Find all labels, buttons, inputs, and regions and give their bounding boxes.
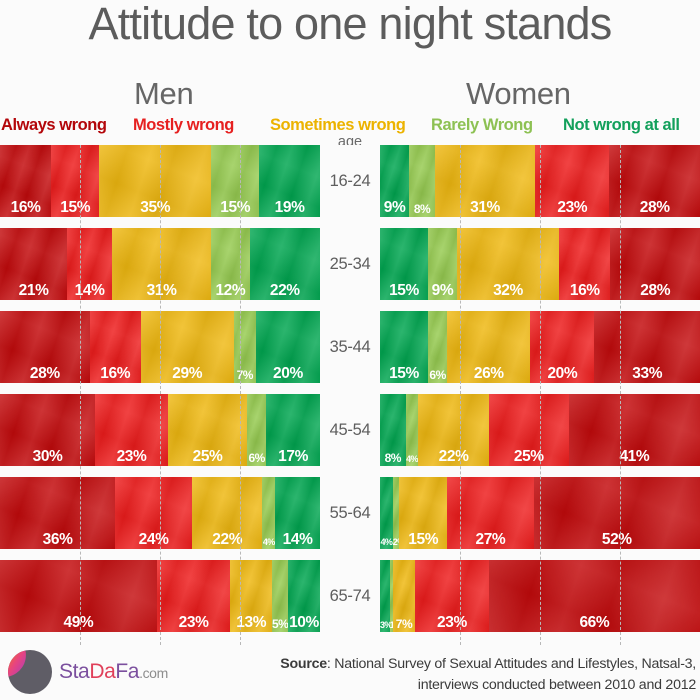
bar-segment: 4%	[406, 394, 419, 466]
bar-segment-label: 27%	[447, 532, 533, 548]
bar-segment: 8%	[380, 394, 406, 466]
bar-segment-label: 25%	[168, 449, 247, 465]
bar-segment: 17%	[266, 394, 320, 466]
bar-segment: 15%	[380, 228, 428, 300]
bar-segment: 28%	[610, 228, 700, 300]
bar-segment-label: 4%	[406, 455, 419, 464]
bar-segment: 25%	[489, 394, 569, 466]
bar-segment-label: 3%	[380, 621, 390, 630]
legend-item-sometimes-wrong: Sometimes wrong	[270, 116, 405, 135]
bar-segment: 28%	[0, 311, 90, 383]
bar-segment-label: 4%	[262, 538, 275, 547]
bar-segment-label: 36%	[0, 532, 115, 548]
legend-item-always-wrong: Always wrong	[1, 116, 107, 135]
bar-segment: 23%	[95, 394, 168, 466]
bar-segment-label: 4%	[380, 538, 393, 547]
bar-segment: 6%	[247, 394, 266, 466]
bar-segment-label: 14%	[67, 283, 112, 299]
bar-segment: 14%	[67, 228, 112, 300]
bar-segment-label: 8%	[409, 203, 435, 215]
chart-bar-men: 16%15%35%15%19%	[0, 145, 320, 217]
bar-segment-label: 28%	[0, 366, 90, 382]
source-text-1: : National Survey of Sexual Attitudes an…	[327, 656, 696, 672]
bar-segment-label: 30%	[0, 449, 95, 465]
bar-segment: 15%	[51, 145, 99, 217]
bar-segment: 23%	[157, 560, 231, 632]
logo-text-sta: Sta	[59, 660, 89, 683]
chart-bar-men: 30%23%25%6%17%	[0, 394, 320, 466]
chart-bar-women: 8%4%22%25%41%	[380, 394, 700, 466]
age-group-label: 55-64	[320, 477, 380, 549]
bar-segment: 19%	[259, 145, 320, 217]
bar-segment-label: 15%	[211, 200, 259, 216]
chart-row: 16%15%35%15%19%9%8%31%23%28%16-24	[0, 145, 700, 217]
legend-item-not-wrong-at-all: Not wrong at all	[563, 116, 680, 135]
bar-segment-label: 28%	[609, 200, 700, 216]
bar-segment-label: 22%	[250, 283, 320, 299]
bar-segment-label: 28%	[610, 283, 700, 299]
legend-item-mostly-wrong: Mostly wrong	[133, 116, 234, 135]
bar-segment: 66%	[489, 560, 700, 632]
bar-segment-label: 15%	[399, 532, 447, 548]
bar-segment-label: 17%	[266, 449, 320, 465]
bar-segment: 20%	[530, 311, 594, 383]
bar-segment-label: 21%	[0, 283, 67, 299]
bar-segment-label: 19%	[259, 200, 320, 216]
bar-segment: 21%	[0, 228, 67, 300]
chart-bar-women: 15%9%32%16%28%	[380, 228, 700, 300]
bar-segment-label: 7%	[234, 369, 256, 381]
bar-segment: 5%	[272, 560, 288, 632]
bar-segment: 16%	[559, 228, 610, 300]
bar-segment: 25%	[168, 394, 247, 466]
bar-segment-label: 14%	[275, 532, 320, 548]
chart-bar-women: 3%1%7%23%66%	[380, 560, 700, 632]
chart-bar-men: 49%23%13%5%10%	[0, 560, 320, 632]
stadafa-logo[interactable]: StaDaFa.com	[8, 650, 168, 694]
bar-segment: 49%	[0, 560, 157, 632]
bar-segment-label: 13%	[230, 615, 272, 631]
chart-row: 36%24%22%4%14%4%2%15%27%52%55-64	[0, 477, 700, 549]
bar-segment-label: 23%	[415, 615, 489, 631]
bar-segment-label: 25%	[489, 449, 569, 465]
bar-segment: 23%	[415, 560, 489, 632]
bar-segment-label: 9%	[380, 200, 409, 216]
bar-segment: 36%	[0, 477, 115, 549]
bar-segment: 22%	[250, 228, 320, 300]
bar-segment: 23%	[535, 145, 609, 217]
bar-segment-label: 16%	[0, 200, 51, 216]
logo-pie-icon	[8, 650, 52, 694]
bar-segment-label: 23%	[535, 200, 609, 216]
bar-segment: 10%	[288, 560, 320, 632]
bar-segment: 7%	[234, 311, 256, 383]
gender-heading-men: Men	[134, 76, 193, 112]
chart-bar-women: 9%8%31%23%28%	[380, 145, 700, 217]
chart-row: 28%16%29%7%20%15%6%26%20%33%35-44	[0, 311, 700, 383]
source-label: Source	[280, 656, 327, 672]
chart-bar-women: 4%2%15%27%52%	[380, 477, 700, 549]
legend-item-rarely-wrong: Rarely Wrong	[431, 116, 533, 135]
bar-segment: 22%	[192, 477, 262, 549]
bar-segment-label: 12%	[211, 283, 249, 299]
bar-segment: 15%	[380, 311, 428, 383]
chart-bar-men: 28%16%29%7%20%	[0, 311, 320, 383]
bar-segment: 31%	[112, 228, 211, 300]
bar-segment-label: 20%	[256, 366, 320, 382]
bar-segment: 16%	[90, 311, 141, 383]
bar-segment-label: 6%	[247, 452, 266, 464]
bar-segment: 13%	[230, 560, 272, 632]
logo-text-fa: Fa	[115, 660, 139, 683]
bar-segment: 32%	[457, 228, 559, 300]
footer: StaDaFa.com Source: National Survey of S…	[0, 648, 700, 700]
infographic-page: Attitude to one night stands Men Women A…	[0, 0, 700, 700]
chart-bar-men: 36%24%22%4%14%	[0, 477, 320, 549]
bar-segment-label: 8%	[380, 452, 406, 464]
bar-segment-label: 16%	[90, 366, 141, 382]
bar-segment: 9%	[428, 228, 457, 300]
source-note: Source: National Survey of Sexual Attitu…	[226, 654, 696, 695]
bar-segment-label: 31%	[435, 200, 535, 216]
bar-segment: 3%	[380, 560, 390, 632]
logo-wordmark: StaDaFa.com	[59, 660, 168, 684]
bar-segment-label: 31%	[112, 283, 211, 299]
bar-segment: 7%	[393, 560, 415, 632]
age-group-label: 65-74	[320, 560, 380, 632]
bar-segment-label: 15%	[380, 366, 428, 382]
bar-segment-label: 23%	[157, 615, 231, 631]
bar-segment-label: 20%	[530, 366, 594, 382]
logo-text-da: Da	[89, 660, 115, 683]
bar-segment: 6%	[428, 311, 447, 383]
bar-segment: 8%	[409, 145, 435, 217]
bar-segment-label: 24%	[115, 532, 192, 548]
bar-segment: 52%	[534, 477, 700, 549]
chart-bar-women: 15%6%26%20%33%	[380, 311, 700, 383]
source-line-1: Source: National Survey of Sexual Attitu…	[226, 654, 696, 675]
age-group-label: 35-44	[320, 311, 380, 383]
bar-segment: 31%	[435, 145, 535, 217]
bar-segment: 15%	[399, 477, 447, 549]
bar-segment: 35%	[99, 145, 211, 217]
chart-plot-area: 16%15%35%15%19%9%8%31%23%28%16-2421%14%3…	[0, 145, 700, 645]
bar-segment-label: 22%	[192, 532, 262, 548]
bar-segment: 4%	[380, 477, 393, 549]
chart-bar-men: 21%14%31%12%22%	[0, 228, 320, 300]
bar-segment-label: 5%	[272, 618, 288, 630]
bar-segment-label: 35%	[99, 200, 211, 216]
bar-segment-label: 15%	[51, 200, 99, 216]
bar-segment: 14%	[275, 477, 320, 549]
gender-headings: Men Women	[0, 76, 700, 110]
bar-segment: 26%	[447, 311, 530, 383]
bar-segment-label: 32%	[457, 283, 559, 299]
bar-segment-label: 10%	[288, 615, 320, 631]
bar-segment-label: 22%	[418, 449, 488, 465]
bar-segment-label: 7%	[393, 618, 415, 630]
bar-segment: 12%	[211, 228, 249, 300]
age-group-label: 45-54	[320, 394, 380, 466]
bar-segment: 33%	[594, 311, 700, 383]
bar-segment: 29%	[141, 311, 234, 383]
bar-segment: 20%	[256, 311, 320, 383]
bar-segment-label: 15%	[380, 283, 428, 299]
chart-row: 49%23%13%5%10%3%1%7%23%66%65-74	[0, 560, 700, 632]
logo-wedge-icon	[8, 650, 30, 676]
bar-segment: 28%	[609, 145, 700, 217]
bar-segment: 15%	[211, 145, 259, 217]
bar-segment-label: 9%	[428, 283, 457, 299]
bar-segment-label: 52%	[534, 532, 700, 548]
page-title: Attitude to one night stands	[0, 0, 700, 50]
bar-segment-label: 29%	[141, 366, 234, 382]
age-group-label: 25-34	[320, 228, 380, 300]
age-group-label: 16-24	[320, 145, 380, 217]
bar-segment: 4%	[262, 477, 275, 549]
bar-segment: 41%	[569, 394, 700, 466]
chart-row: 21%14%31%12%22%15%9%32%16%28%25-34	[0, 228, 700, 300]
bar-segment: 16%	[0, 145, 51, 217]
bar-segment: 22%	[418, 394, 488, 466]
bar-segment: 24%	[115, 477, 192, 549]
bar-segment: 9%	[380, 145, 409, 217]
bar-segment-label: 41%	[569, 449, 700, 465]
gender-heading-women: Women	[466, 76, 571, 112]
bar-segment-label: 16%	[559, 283, 610, 299]
bar-segment: 30%	[0, 394, 95, 466]
bar-segment: 27%	[447, 477, 533, 549]
bar-segment-label: 6%	[428, 369, 447, 381]
bar-segment-label: 49%	[0, 615, 157, 631]
logo-text-com: .com	[139, 665, 168, 681]
bar-segment-label: 66%	[489, 615, 700, 631]
bar-segment-label: 33%	[594, 366, 700, 382]
chart-row: 30%23%25%6%17%8%4%22%25%41%45-54	[0, 394, 700, 466]
bar-segment-label: 26%	[447, 366, 530, 382]
bar-segment-label: 23%	[95, 449, 168, 465]
source-line-2: interviews conducted between 2010 and 20…	[226, 675, 696, 696]
